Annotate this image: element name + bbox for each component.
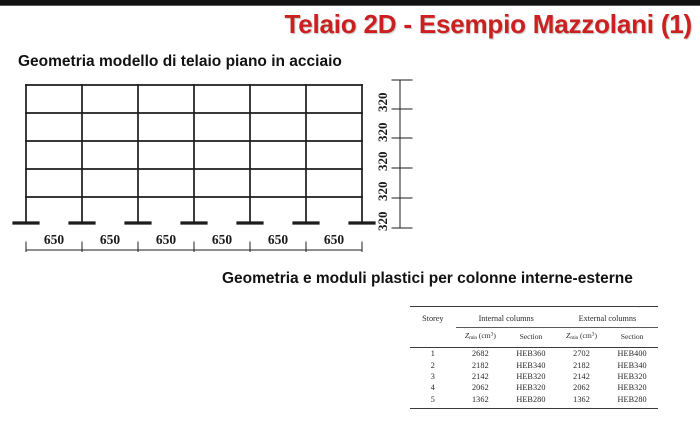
table-row: 1 2682 HEB360 2702 HEB400	[410, 348, 658, 360]
header-internal-columns: Internal columns	[456, 310, 557, 327]
cell-external-z: 2062	[557, 382, 607, 393]
cell-external-z: 2142	[557, 371, 607, 382]
sub-header-external-zmin: Zmin (cm3)	[557, 327, 607, 345]
sub-header-internal-zmin: Zmin (cm3)	[456, 327, 506, 345]
bay-width-label: 650	[138, 232, 194, 248]
sub-header-storey-blank	[410, 327, 456, 345]
header-storey: Storey	[410, 310, 456, 327]
cell-external-z: 2702	[557, 348, 607, 360]
cell-storey: 4	[410, 382, 456, 393]
cell-storey: 1	[410, 348, 456, 360]
bay-width-label: 650	[250, 232, 306, 248]
table-row: 3 2142 HEB320 2142 HEB320	[410, 371, 658, 382]
vertical-dimension-line	[392, 80, 412, 228]
frame-svg	[0, 72, 430, 252]
cell-internal-section: HEB280	[505, 394, 557, 405]
cell-external-section: HEB400	[606, 348, 658, 360]
table-section-heading: Geometria e moduli plastici per colonne …	[222, 270, 633, 288]
table-row: 4 2062 HEB320 2062 HEB320	[410, 382, 658, 393]
cell-external-section: HEB320	[606, 382, 658, 393]
table-row: 2 2182 HEB340 2182 HEB340	[410, 359, 658, 370]
cell-internal-section: HEB320	[505, 371, 557, 382]
cell-internal-section: HEB340	[505, 359, 557, 370]
frame-columns	[26, 85, 362, 222]
storey-height-label: 320	[375, 78, 391, 112]
cell-internal-z: 2062	[456, 382, 506, 393]
sub-header-external-section: Section	[606, 327, 658, 345]
cell-internal-z: 2182	[456, 359, 506, 370]
bay-width-label: 650	[82, 232, 138, 248]
cell-internal-z: 2682	[456, 348, 506, 360]
cell-external-z: 2182	[557, 359, 607, 370]
cell-storey: 3	[410, 371, 456, 382]
columns-properties-table: · Storey Internal columns External colum…	[410, 306, 658, 409]
bay-width-label: 650	[306, 232, 362, 248]
cell-internal-section: HEB360	[505, 348, 557, 360]
bay-width-label: 650	[194, 232, 250, 248]
cell-external-section: HEB320	[606, 371, 658, 382]
table-artifact-dot: ·	[637, 302, 640, 312]
cell-storey: 2	[410, 359, 456, 370]
bay-width-label: 650	[26, 232, 82, 248]
sub-header-internal-section: Section	[505, 327, 557, 345]
cell-storey: 5	[410, 394, 456, 405]
page-title: Telaio 2D - Esempio Mazzolani (1)	[284, 9, 692, 40]
table-row: 5 1362 HEB280 1362 HEB280	[410, 394, 658, 405]
table-group-header-row: Storey Internal columns External columns	[410, 310, 658, 327]
storey-height-label: 320	[375, 197, 391, 231]
header-external-columns: External columns	[557, 310, 658, 327]
cell-internal-z: 2142	[456, 371, 506, 382]
table: Storey Internal columns External columns…	[410, 306, 658, 409]
cell-external-section: HEB280	[606, 394, 658, 405]
table-bottom-rule	[410, 405, 658, 409]
storey-height-label: 320	[375, 137, 391, 171]
frame-section-heading: Geometria modello di telaio piano in acc…	[18, 53, 342, 71]
cell-internal-section: HEB320	[505, 382, 557, 393]
top-band-hairline	[0, 5, 700, 6]
steel-frame-diagram: 320 320 320 320 320 650 650 650 650 650 …	[0, 72, 430, 252]
table-sub-header-row: Zmin (cm3) Section Zmin (cm3) Section	[410, 327, 658, 345]
storey-height-label: 320	[375, 167, 391, 201]
cell-external-section: HEB340	[606, 359, 658, 370]
cell-internal-z: 1362	[456, 394, 506, 405]
cell-external-z: 1362	[557, 394, 607, 405]
